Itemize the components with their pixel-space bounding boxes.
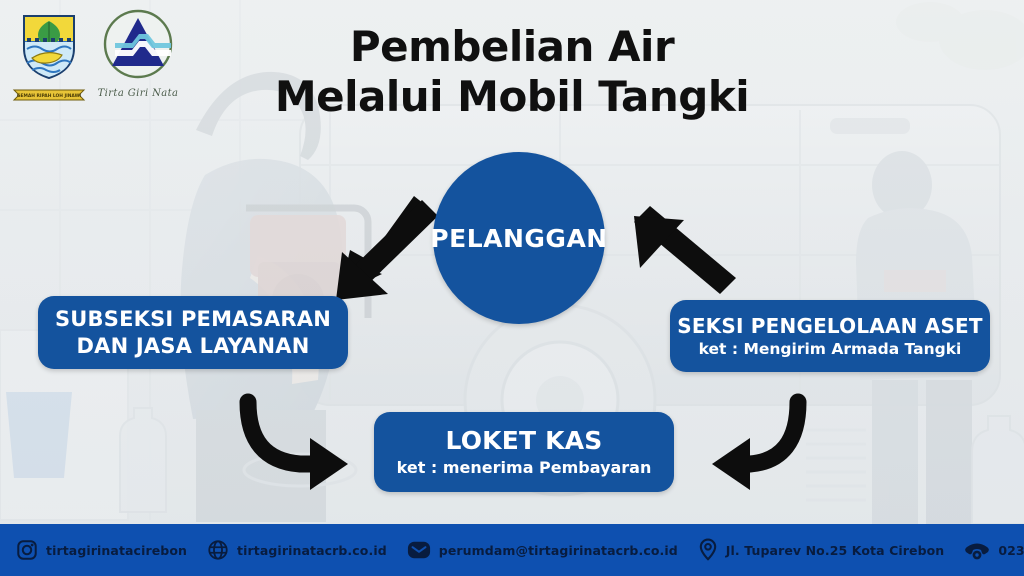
contact-instagram-value: tirtagirinatacirebon (46, 543, 187, 558)
tirta-triangle-icon (96, 8, 180, 82)
contact-website-value: tirtagirinatacrb.co.id (237, 543, 387, 558)
email-icon (407, 539, 431, 561)
contact-email-value: perumdam@tirtagirinatacrb.co.id (439, 543, 678, 558)
pemasaran-label-line-2: DAN JASA LAYANAN (76, 333, 309, 360)
contact-phone-value: 0231 - 204800 / 0231 - 202594 (998, 543, 1024, 558)
crest-motto-banner: GEMAH RIPAH LOH JINAWI (12, 88, 86, 101)
footer-contact-bar: tirtagirinatacirebon tirtagirinatacrb.co… (0, 524, 1024, 576)
infographic-poster: GEMAH RIPAH LOH JINAWI Tirta Giri Nata P… (0, 0, 1024, 576)
arrow-marketing-to-cashier-icon (222, 388, 372, 498)
contact-address-value: Jl. Tuparev No.25 Kota Cirebon (726, 543, 945, 558)
crest-shield-icon (12, 8, 86, 82)
tirta-logo-caption: Tirta Giri Nata (96, 88, 180, 99)
flow-node-seksi-pengelolaan-aset[interactable]: SEKSI PENGELOLAAN ASET ket : Mengirim Ar… (670, 300, 990, 372)
globe-icon (207, 539, 229, 561)
instagram-icon (16, 539, 38, 561)
location-pin-icon (698, 538, 718, 562)
tirta-giri-nata-logo: Tirta Giri Nata (96, 8, 180, 99)
loket-kas-label: LOKET KAS (445, 427, 602, 455)
contact-instagram[interactable]: tirtagirinatacirebon (16, 539, 187, 561)
contact-phone[interactable]: 0231 - 204800 / 0231 - 202594 (964, 539, 1024, 561)
logo-group: GEMAH RIPAH LOH JINAWI Tirta Giri Nata (12, 8, 180, 106)
arrow-asset-to-cashier-icon (702, 388, 852, 498)
arrow-asset-to-customer-icon (616, 192, 776, 302)
flow-node-pelanggan[interactable]: PELANGGAN (433, 152, 605, 324)
crest-motto-text: GEMAH RIPAH LOH JINAWI (17, 93, 82, 99)
contact-email[interactable]: perumdam@tirtagirinatacrb.co.id (407, 539, 678, 561)
contact-address[interactable]: Jl. Tuparev No.25 Kota Cirebon (698, 538, 945, 562)
pemasaran-label-line-1: SUBSEKSI PEMASARAN (55, 306, 331, 333)
cirebon-crest-logo: GEMAH RIPAH LOH JINAWI (12, 8, 86, 106)
aset-label: SEKSI PENGELOLAAN ASET (677, 315, 983, 338)
flow-node-subseksi-pemasaran[interactable]: SUBSEKSI PEMASARAN DAN JASA LAYANAN (38, 296, 348, 369)
contact-website[interactable]: tirtagirinatacrb.co.id (207, 539, 387, 561)
phone-icon (964, 539, 990, 561)
pelanggan-label: PELANGGAN (430, 224, 607, 253)
flow-node-loket-kas[interactable]: LOKET KAS ket : menerima Pembayaran (374, 412, 674, 492)
aset-note: ket : Mengirim Armada Tangki (699, 340, 962, 358)
loket-kas-note: ket : menerima Pembayaran (397, 458, 652, 477)
